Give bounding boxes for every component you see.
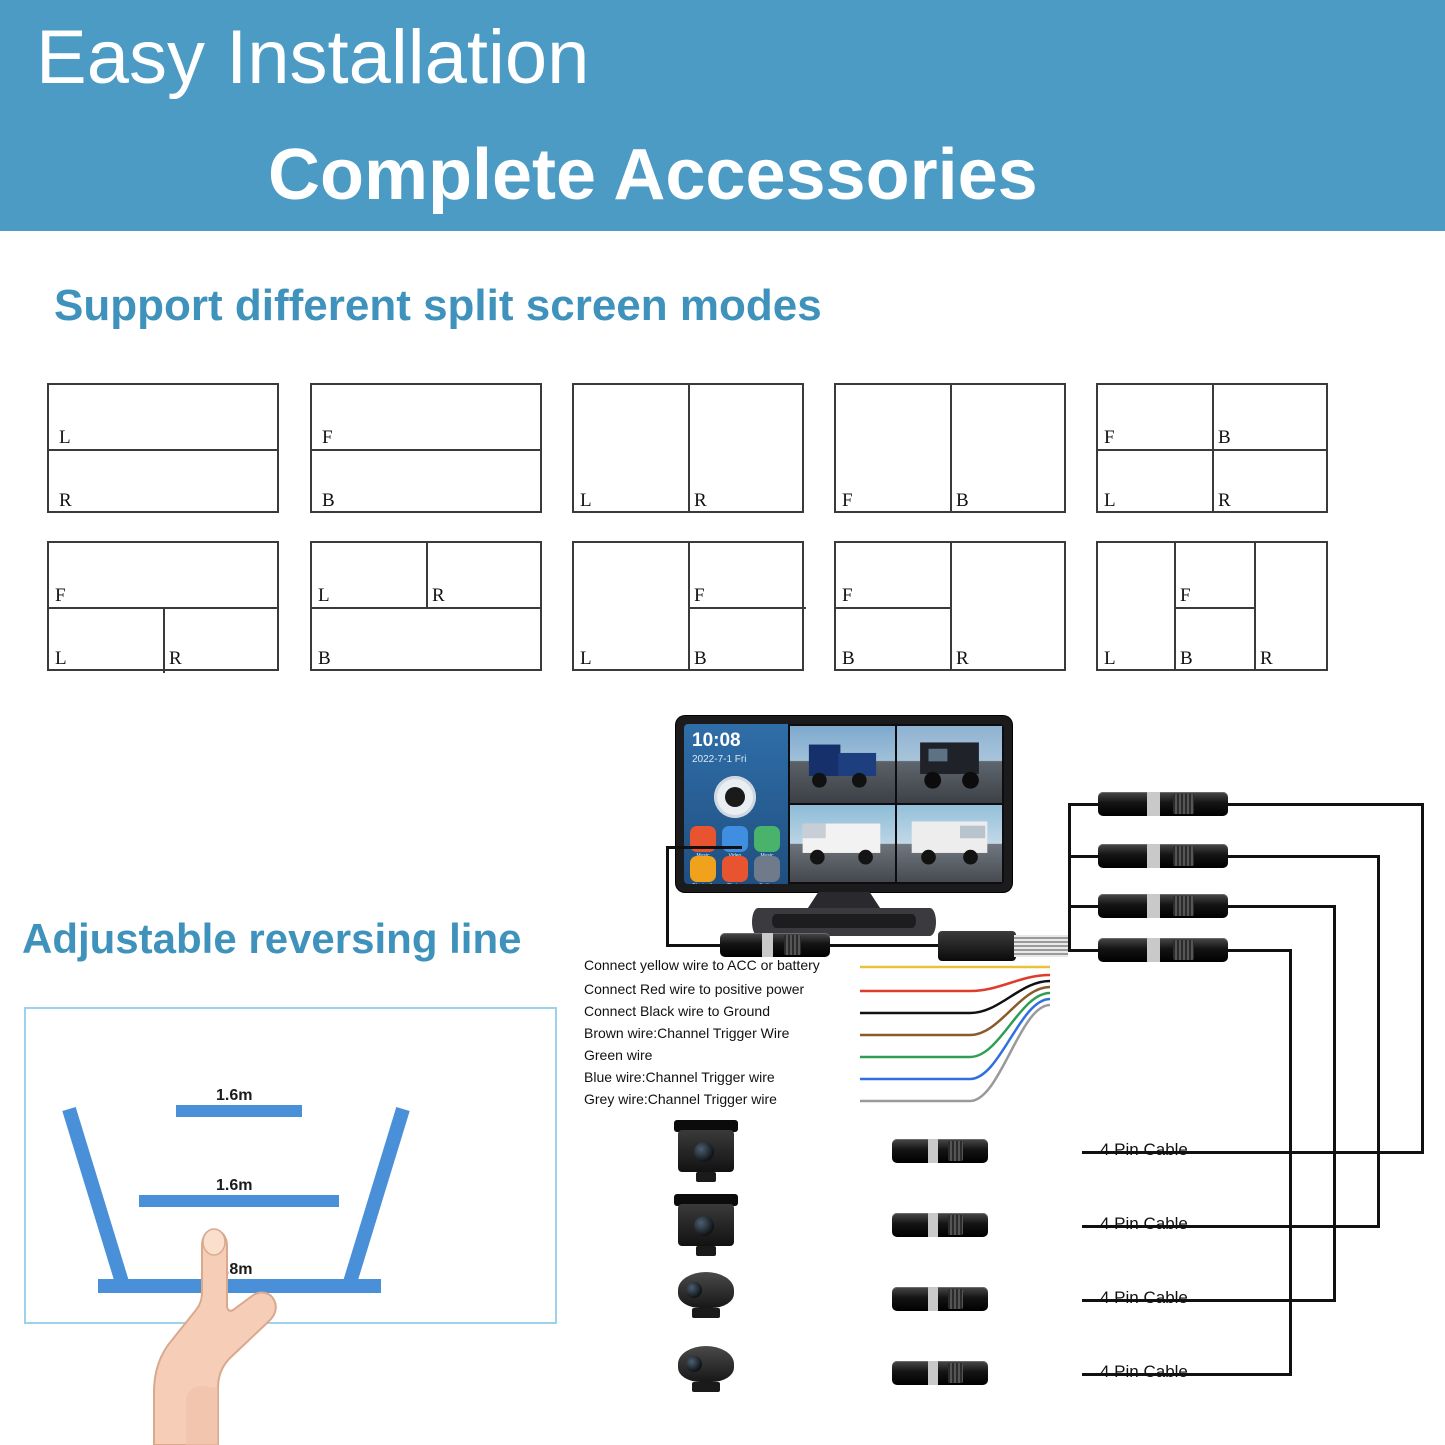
wiring-diagram: Connect yellow wire to ACC or battery Co…	[570, 716, 1445, 1445]
connector-channel-3	[1098, 894, 1228, 918]
split-mode-6[interactable]: F L R	[47, 541, 279, 671]
inline-connector-main	[720, 933, 830, 957]
split-mode-10-label-L: L	[1104, 648, 1116, 670]
split-mode-8-label-L: L	[580, 648, 592, 670]
reversing-distance-label-2: 1.6m	[216, 1177, 252, 1195]
split-mode-8[interactable]: F L B	[572, 541, 804, 671]
split-screen-section-title: Support different split screen modes	[54, 281, 822, 331]
cable-label-1: 4 Pin Cable	[1100, 1140, 1188, 1160]
camera-2-mount	[696, 1246, 716, 1256]
wire-hub-ch3	[1068, 905, 1100, 908]
reversing-distance-label-1: 1.6m	[216, 1087, 252, 1105]
wire-hub-ch1	[1068, 803, 1100, 806]
wire-bus-4-down	[1289, 949, 1292, 1375]
cable-hub-ribbon	[1014, 935, 1068, 957]
split-mode-10-label-B: B	[1180, 648, 1193, 670]
split-mode-2[interactable]: F B	[310, 383, 542, 513]
split-mode-5-label-R: R	[1218, 490, 1231, 512]
split-mode-5-label-F: F	[1104, 427, 1115, 449]
wire-bus-3-down	[1333, 905, 1336, 1301]
camera-1-mount	[696, 1172, 716, 1182]
banner-title-line1: Easy Installation	[36, 14, 589, 101]
wire-bus-2-down	[1377, 855, 1380, 1227]
split-mode-1[interactable]: L R	[47, 383, 279, 513]
camera-4-mount	[692, 1382, 720, 1392]
split-mode-7-label-L: L	[318, 585, 330, 607]
wire-bus-3-top	[1226, 905, 1336, 908]
reversing-guide-top-bar	[176, 1105, 302, 1117]
split-mode-8-label-F: F	[694, 585, 705, 607]
split-mode-9-label-B: B	[842, 648, 855, 670]
split-mode-7-label-B: B	[318, 648, 331, 670]
wire-bus-4-top	[1226, 949, 1292, 952]
wire-bus-1-down	[1421, 803, 1424, 1153]
reversing-guide-right-rail	[344, 1107, 410, 1283]
split-mode-4-label-B: B	[956, 490, 969, 512]
wire-label-brown: Brown wire:Channel Trigger Wire	[584, 1025, 789, 1041]
wire-monitor-top-stub	[666, 846, 742, 849]
wire-label-blue: Blue wire:Channel Trigger wire	[584, 1069, 775, 1085]
camera-unit-4	[674, 1346, 738, 1398]
split-mode-10-label-R: R	[1260, 648, 1273, 670]
wire-hub-ch2	[1068, 855, 1100, 858]
connector-channel-4	[1098, 938, 1228, 962]
banner-title-line2: Complete Accessories	[268, 134, 1038, 216]
split-mode-6-label-F: F	[55, 585, 66, 607]
reversing-line-section-title: Adjustable reversing line	[22, 915, 522, 963]
camera-unit-1	[670, 1120, 742, 1182]
wire-hub-ch4	[1068, 949, 1100, 952]
camera-unit-3	[674, 1272, 738, 1324]
header-banner: Easy Installation Complete Accessories	[0, 0, 1445, 231]
cable-label-2: 4 Pin Cable	[1100, 1214, 1188, 1234]
connector-channel-1	[1098, 792, 1228, 816]
camera-2-lens-icon	[694, 1216, 714, 1236]
split-mode-10-label-F: F	[1180, 585, 1191, 607]
split-mode-4[interactable]: F B	[834, 383, 1066, 513]
camera-3-connector	[892, 1287, 988, 1311]
camera-3-lens-icon	[686, 1282, 702, 1298]
camera-unit-2	[670, 1194, 742, 1256]
split-mode-7-label-R: R	[432, 585, 445, 607]
split-mode-10[interactable]: F L B R	[1096, 541, 1328, 671]
split-mode-9[interactable]: F B R	[834, 541, 1066, 671]
camera-3-mount	[692, 1308, 720, 1318]
split-mode-6-label-R: R	[169, 648, 182, 670]
split-mode-1-label-R: R	[59, 490, 72, 512]
split-mode-2-label-F: F	[322, 427, 333, 449]
split-mode-2-label-B: B	[322, 490, 335, 512]
wire-label-green: Green wire	[584, 1047, 652, 1063]
wire-bus-1-top	[1226, 803, 1424, 806]
split-mode-3[interactable]: L R	[572, 383, 804, 513]
wire-label-yellow: Connect yellow wire to ACC or battery	[584, 957, 820, 973]
split-mode-4-label-F: F	[842, 490, 853, 512]
cable-label-3: 4 Pin Cable	[1100, 1288, 1188, 1308]
split-mode-3-label-R: R	[694, 490, 707, 512]
wire-label-black: Connect Black wire to Ground	[584, 1003, 770, 1019]
wire-label-red: Connect Red wire to positive power	[584, 981, 804, 997]
camera-4-connector	[892, 1361, 988, 1385]
pointing-hand-illustration	[118, 1222, 318, 1445]
wire-hub-riser	[1068, 803, 1071, 951]
reversing-guide-mid-bar	[139, 1195, 339, 1207]
wire-label-grey: Grey wire:Channel Trigger wire	[584, 1091, 777, 1107]
wire-bus-2-top	[1226, 855, 1380, 858]
split-mode-6-label-L: L	[55, 648, 67, 670]
split-mode-1-label-L: L	[59, 427, 71, 449]
split-mode-7[interactable]: L R B	[310, 541, 542, 671]
split-mode-9-label-F: F	[842, 585, 853, 607]
wire-monitor-down	[666, 846, 669, 946]
split-mode-9-label-R: R	[956, 648, 969, 670]
split-mode-3-label-L: L	[580, 490, 592, 512]
connector-channel-2	[1098, 844, 1228, 868]
camera-1-connector	[892, 1139, 988, 1163]
camera-2-connector	[892, 1213, 988, 1237]
camera-1-lens-icon	[694, 1142, 714, 1162]
cable-hub	[938, 931, 1016, 961]
split-mode-5-label-L: L	[1104, 490, 1116, 512]
split-mode-5[interactable]: F B L R	[1096, 383, 1328, 513]
camera-4-lens-icon	[686, 1356, 702, 1372]
split-mode-5-label-B: B	[1218, 427, 1231, 449]
split-mode-8-label-B: B	[694, 648, 707, 670]
cable-label-4: 4 Pin Cable	[1100, 1362, 1188, 1382]
